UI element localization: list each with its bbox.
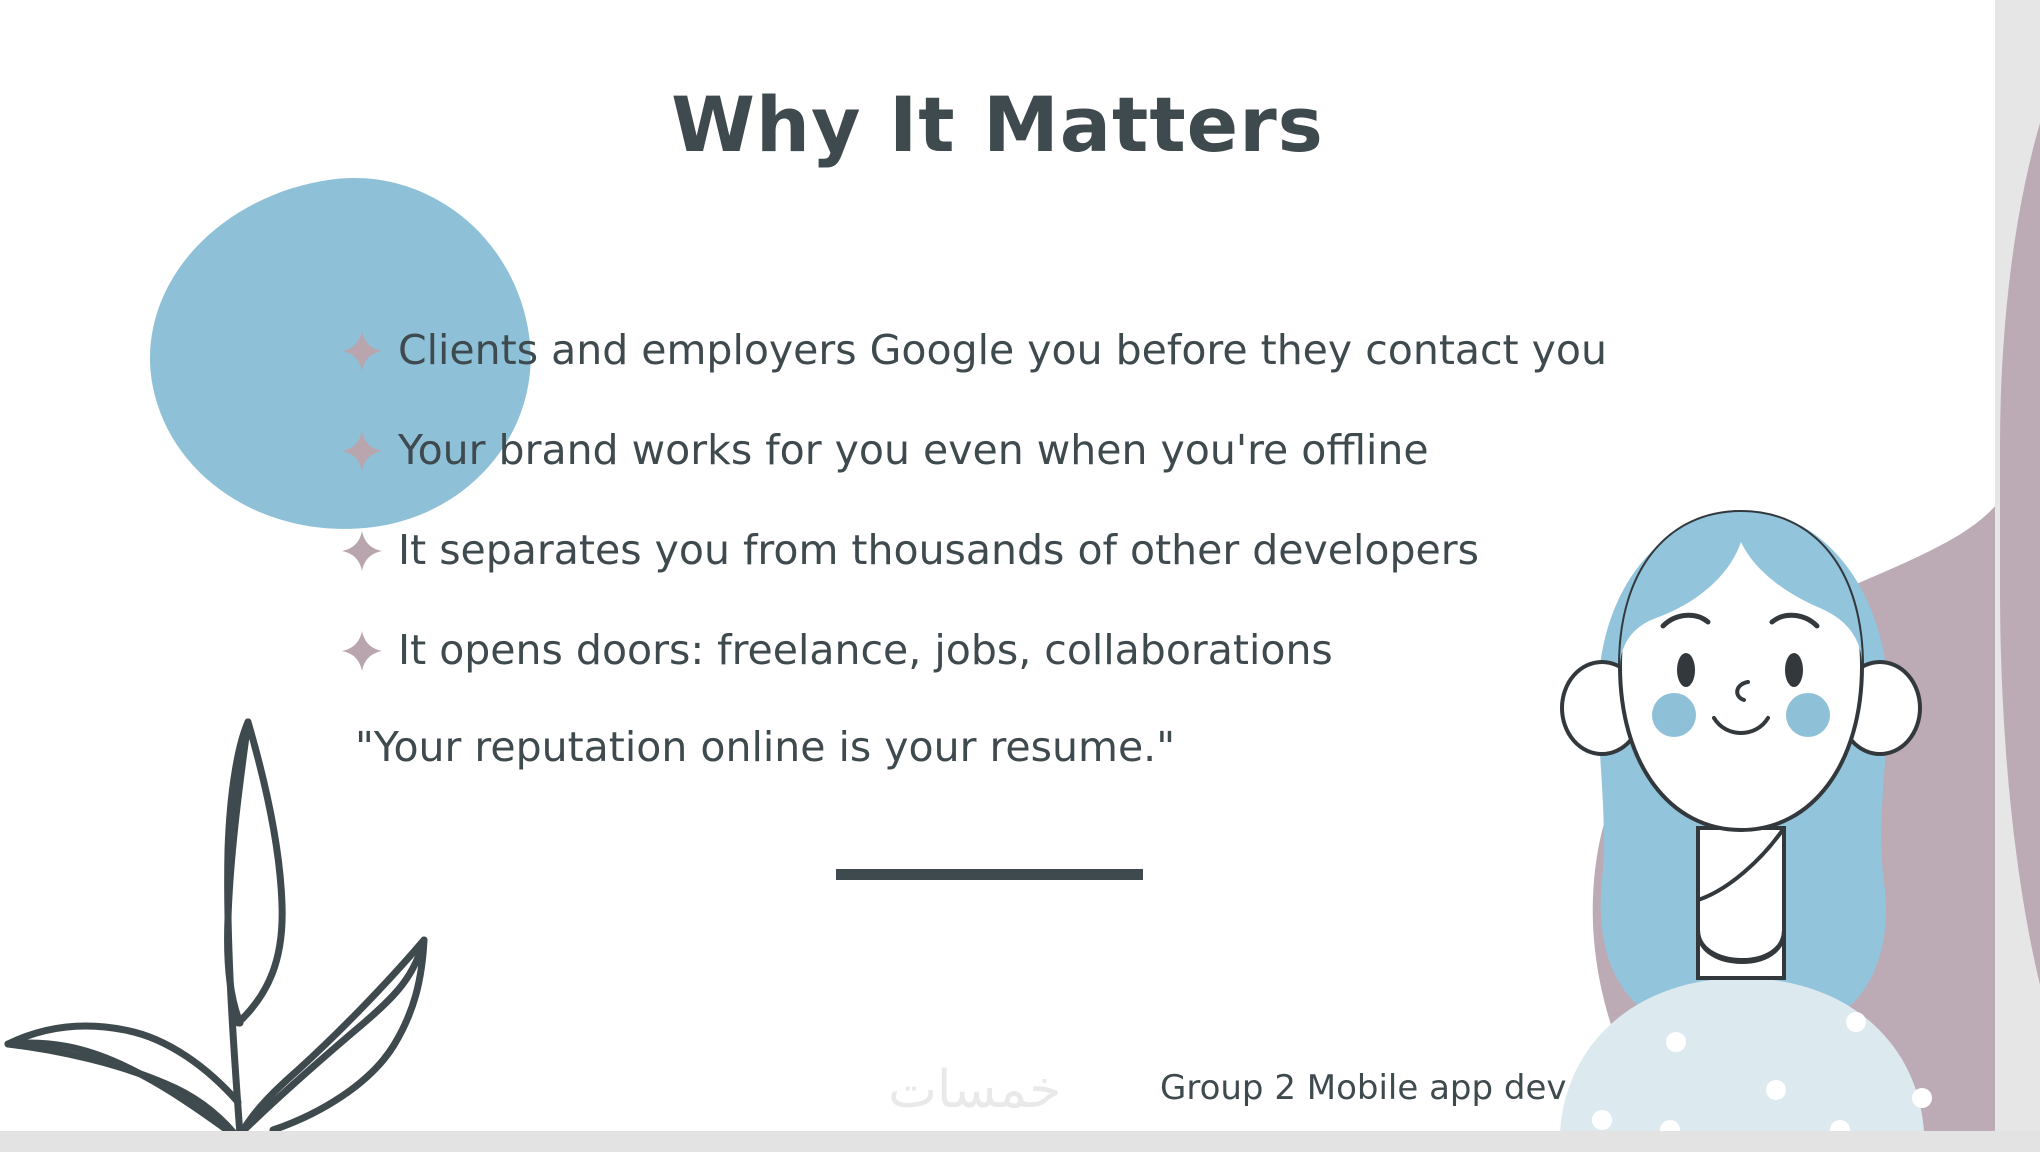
watermark: خمسات [888, 1060, 1061, 1120]
screenshot-stage: Why It Matters Clients and employers Goo… [0, 0, 2040, 1152]
list-item: It opens doors: freelance, jobs, collabo… [340, 600, 1900, 700]
bullet-list: Clients and employers Google you before … [340, 300, 1900, 700]
divider [836, 869, 1143, 880]
mauve-blob-outer [2000, 0, 2040, 1152]
quote-text: "Your reputation online is your resume." [355, 723, 1175, 771]
plant-line-art-icon [0, 640, 470, 1131]
bottom-strip [0, 1131, 2040, 1152]
list-item-label: Clients and employers Google you before … [398, 330, 1607, 371]
list-item-label: It separates you from thousands of other… [398, 530, 1479, 571]
sparkle-icon [340, 429, 384, 473]
sparkle-icon [340, 329, 384, 373]
page-title: Why It Matters [0, 80, 1995, 169]
footer-label: Group 2 Mobile app dev [1160, 1068, 1567, 1108]
list-item: Clients and employers Google you before … [340, 300, 1900, 400]
list-item: It separates you from thousands of other… [340, 500, 1900, 600]
presentation-slide: Why It Matters Clients and employers Goo… [0, 0, 1995, 1131]
sparkle-icon [340, 529, 384, 573]
sparkle-icon [340, 629, 384, 673]
list-item: Your brand works for you even when you'r… [340, 400, 1900, 500]
list-item-label: It opens doors: freelance, jobs, collabo… [398, 630, 1333, 671]
list-item-label: Your brand works for you even when you'r… [398, 430, 1429, 471]
